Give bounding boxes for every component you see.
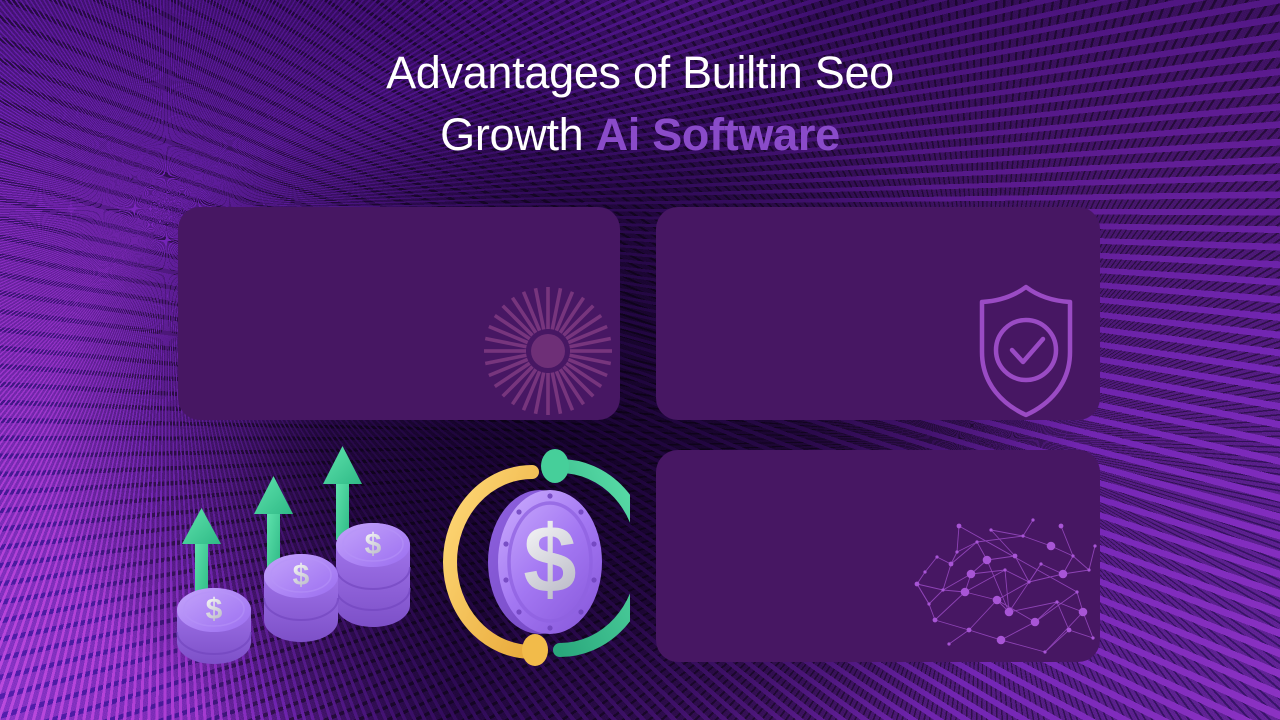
page-title: Advantages of Builtin Seo Growth Ai Soft…	[0, 48, 1280, 159]
shield-check-graphic	[962, 282, 1090, 420]
coin-stack-medium: $	[264, 554, 338, 642]
growth-arrow-small	[182, 508, 221, 600]
dollar-symbol: $	[523, 506, 576, 613]
page-title-accent-text: Ai Software	[596, 109, 840, 160]
feature-card-secure[interactable]	[656, 207, 1100, 420]
money-growth-3d-illustration: $ $ $ $	[160, 440, 630, 680]
sunburst-graphic	[478, 282, 618, 420]
page-title-line-1: Advantages of Builtin Seo	[0, 48, 1280, 98]
dollar-symbol: $	[365, 528, 382, 561]
page-title-plain-text: Growth	[440, 109, 595, 160]
dollar-coin-large: $	[488, 490, 602, 634]
orbit-ring-yellow-cap	[522, 634, 548, 666]
dollar-symbol: $	[293, 559, 310, 592]
feature-card-growth[interactable]	[178, 207, 620, 420]
network-nodes-graphic	[905, 512, 1100, 662]
coin-stack-large: $	[336, 523, 410, 627]
dollar-symbol: $	[206, 593, 223, 626]
page-title-line-2: Growth Ai Software	[0, 110, 1280, 160]
feature-card-traffic[interactable]	[656, 450, 1100, 662]
coin-stack-small: $	[177, 588, 251, 664]
